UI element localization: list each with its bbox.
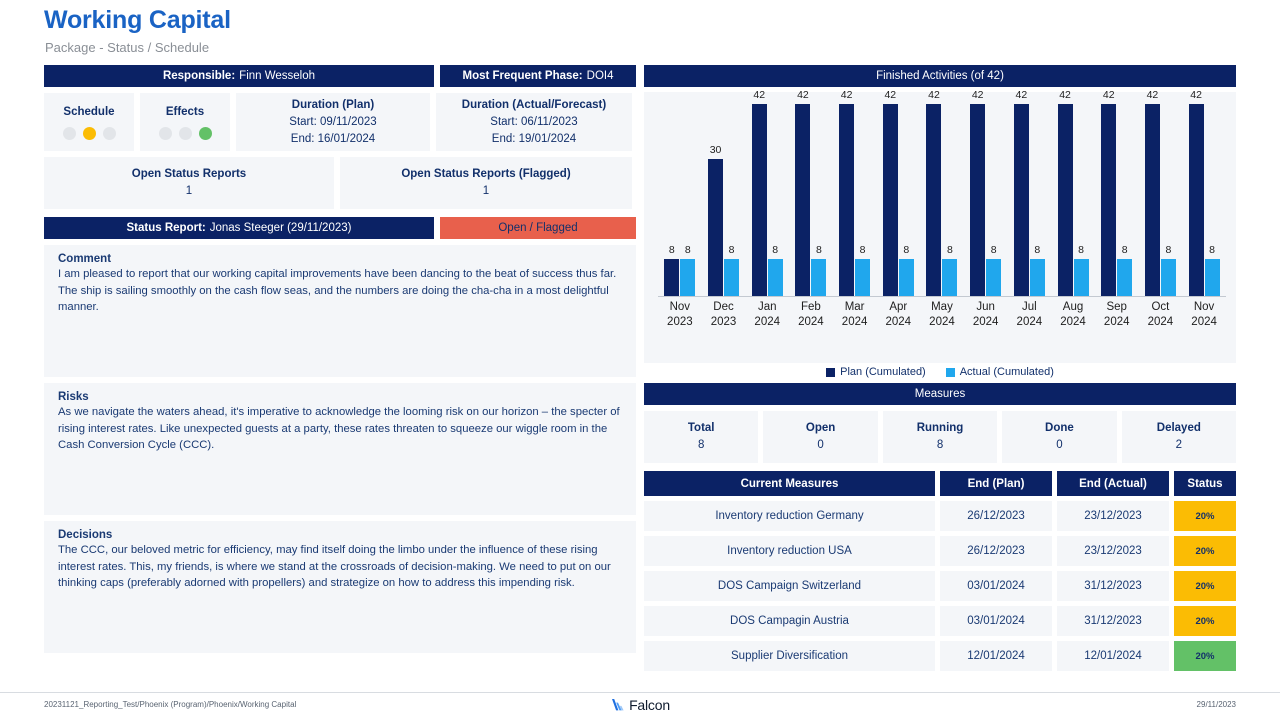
schedule-traffic-light — [63, 127, 116, 140]
bar-value-label: 8 — [685, 244, 691, 256]
cell-measure-name: Inventory reduction USA — [644, 536, 935, 566]
bar-value-label: 8 — [1034, 244, 1040, 256]
footer: 20231121_Reporting_Test/Phoenix (Program… — [0, 692, 1280, 720]
measures-panel-title: Measures — [644, 383, 1236, 405]
dashboard-page: Working Capital Package - Status / Sched… — [0, 0, 1280, 720]
measures-table-header: Current Measures End (Plan) End (Actual)… — [644, 471, 1236, 496]
bar-value-label: 8 — [1165, 244, 1171, 256]
duration-plan-start: Start: 09/11/2023 — [289, 114, 376, 131]
chart-bar-group: 428 — [1140, 104, 1180, 296]
left-column: Responsible: Finn Wesseloh Most Frequent… — [44, 65, 636, 653]
bar-value-label: 8 — [860, 244, 866, 256]
legend-swatch — [826, 368, 835, 377]
effects-card[interactable]: Effects — [140, 93, 230, 151]
open-status-reports-card[interactable]: Open Status Reports 1 — [44, 157, 334, 209]
chart-bar-group: 428 — [1184, 104, 1224, 296]
bar-plan: 42 — [1145, 104, 1160, 296]
cell-status-badge: 20% — [1174, 501, 1236, 531]
risks-block: Risks As we navigate the waters ahead, i… — [44, 383, 636, 515]
comment-body: I am pleased to report that our working … — [58, 266, 622, 316]
bar-value-label: 8 — [772, 244, 778, 256]
duration-actual-end: End: 19/01/2024 — [492, 131, 576, 148]
finished-activities-chart: 88308428428428428428428428428428428428 N… — [644, 92, 1236, 363]
bar-value-label: 42 — [841, 89, 853, 101]
traffic-dot-yellow — [83, 127, 96, 140]
duration-plan-label: Duration (Plan) — [292, 97, 374, 114]
measure-summary-card[interactable]: Total8 — [644, 411, 758, 463]
cell-status-badge: 20% — [1174, 571, 1236, 601]
chart-bar-group: 428 — [878, 104, 918, 296]
cell-end-plan: 26/12/2023 — [940, 501, 1052, 531]
bar-actual: 8 — [768, 259, 783, 296]
bar-plan: 8 — [664, 259, 679, 296]
duration-actual-start: Start: 06/11/2023 — [490, 114, 577, 131]
x-axis-tick-label: Feb2024 — [791, 300, 831, 330]
cell-end-plan: 03/01/2024 — [940, 606, 1052, 636]
chart-bar-group: 428 — [1009, 104, 1049, 296]
column-header-status: Status — [1174, 471, 1236, 496]
measure-summary-label: Running — [917, 420, 964, 437]
decisions-heading: Decisions — [58, 529, 622, 541]
bar-value-label: 8 — [1122, 244, 1128, 256]
legend-label: Plan (Cumulated) — [840, 366, 926, 378]
open-status-reports-label: Open Status Reports — [132, 166, 246, 183]
measure-summary-value: 8 — [698, 437, 704, 454]
bar-plan: 30 — [708, 159, 723, 296]
effects-label: Effects — [166, 104, 204, 121]
measure-summary-card[interactable]: Open0 — [763, 411, 877, 463]
bar-value-label: 42 — [884, 89, 896, 101]
cell-end-actual: 23/12/2023 — [1057, 501, 1169, 531]
open-reports-row: Open Status Reports 1 Open Status Report… — [44, 157, 636, 209]
bar-plan: 42 — [752, 104, 767, 296]
legend-label: Actual (Cumulated) — [960, 366, 1054, 378]
bar-value-label: 42 — [797, 89, 809, 101]
cell-status-badge: 20% — [1174, 606, 1236, 636]
column-header-name: Current Measures — [644, 471, 935, 496]
right-column: Finished Activities (of 42) 883084284284… — [644, 65, 1236, 671]
phase-value: DOI4 — [587, 70, 614, 82]
x-axis-tick-label: Jan2024 — [747, 300, 787, 330]
measures-summary-row: Total8Open0Running8Done0Delayed2 — [644, 411, 1236, 463]
footer-brand-name: Falcon — [629, 697, 670, 713]
bar-plan: 42 — [970, 104, 985, 296]
x-axis-tick-label: May2024 — [922, 300, 962, 330]
table-row[interactable]: DOS Campaign Switzerland03/01/202431/12/… — [644, 571, 1236, 601]
cell-status-badge: 20% — [1174, 641, 1236, 671]
bar-actual: 8 — [1161, 259, 1176, 296]
cell-end-plan: 26/12/2023 — [940, 536, 1052, 566]
table-row[interactable]: DOS Campagin Austria03/01/202431/12/2023… — [644, 606, 1236, 636]
bar-value-label: 42 — [753, 89, 765, 101]
traffic-dot-green — [103, 127, 116, 140]
cell-end-plan: 03/01/2024 — [940, 571, 1052, 601]
chart-plot-area: 88308428428428428428428428428428428428 — [658, 104, 1226, 296]
cell-measure-name: DOS Campagin Austria — [644, 606, 935, 636]
bar-value-label: 42 — [1190, 89, 1202, 101]
status-report-author: Jonas Steeger (29/11/2023) — [210, 222, 352, 234]
measure-summary-value: 8 — [937, 437, 943, 454]
duration-plan-end: End: 16/01/2024 — [291, 131, 375, 148]
x-axis-tick-label: Apr2024 — [878, 300, 918, 330]
measure-summary-value: 0 — [1056, 437, 1062, 454]
bar-value-label: 8 — [1078, 244, 1084, 256]
bar-plan: 42 — [926, 104, 941, 296]
cell-end-actual: 31/12/2023 — [1057, 606, 1169, 636]
bar-plan: 42 — [795, 104, 810, 296]
bar-value-label: 8 — [947, 244, 953, 256]
risks-heading: Risks — [58, 391, 622, 403]
legend-item[interactable]: Actual (Cumulated) — [946, 366, 1054, 378]
x-axis-tick-label: Nov2023 — [660, 300, 700, 330]
table-row[interactable]: Supplier Diversification12/01/202412/01/… — [644, 641, 1236, 671]
measure-summary-label: Open — [806, 420, 835, 437]
table-row[interactable]: Inventory reduction Germany26/12/202323/… — [644, 501, 1236, 531]
bar-plan: 42 — [1189, 104, 1204, 296]
bar-actual: 8 — [986, 259, 1001, 296]
traffic-dot-red — [63, 127, 76, 140]
falcon-logo-icon — [610, 698, 625, 712]
decisions-body: The CCC, our beloved metric for efficien… — [58, 542, 622, 592]
cell-measure-name: DOS Campaign Switzerland — [644, 571, 935, 601]
phase-label: Most Frequent Phase: — [463, 70, 583, 82]
measure-summary-card[interactable]: Running8 — [883, 411, 997, 463]
schedule-label: Schedule — [63, 104, 114, 121]
chart-bar-group: 428 — [966, 104, 1006, 296]
legend-item[interactable]: Plan (Cumulated) — [826, 366, 926, 378]
traffic-dot-red — [159, 127, 172, 140]
bar-plan: 42 — [1101, 104, 1116, 296]
x-axis-tick-label: Sep2024 — [1097, 300, 1137, 330]
cell-measure-name: Inventory reduction Germany — [644, 501, 935, 531]
cell-end-actual: 31/12/2023 — [1057, 571, 1169, 601]
bar-value-label: 8 — [816, 244, 822, 256]
bar-plan: 42 — [883, 104, 898, 296]
footer-date: 29/11/2023 — [1197, 700, 1236, 709]
bar-actual: 8 — [942, 259, 957, 296]
bar-actual: 8 — [1117, 259, 1132, 296]
comment-block: Comment I am pleased to report that our … — [44, 245, 636, 377]
chart-bar-group: 428 — [835, 104, 875, 296]
effects-traffic-light — [159, 127, 212, 140]
duration-actual-label: Duration (Actual/Forecast) — [462, 97, 606, 114]
chart-x-axis-labels: Nov2023Dec2023Jan2024Feb2024Mar2024Apr20… — [658, 300, 1226, 330]
duration-plan-card: Duration (Plan) Start: 09/11/2023 End: 1… — [236, 93, 430, 151]
chart-bar-group: 428 — [922, 104, 962, 296]
chart-bar-group: 428 — [1053, 104, 1093, 296]
bar-plan: 42 — [1058, 104, 1073, 296]
column-header-end-actual: End (Actual) — [1057, 471, 1169, 496]
status-report-header-row: Status Report: Jonas Steeger (29/11/2023… — [44, 217, 636, 239]
responsible-bar: Responsible: Finn Wesseloh — [44, 65, 434, 87]
status-report-bar: Status Report: Jonas Steeger (29/11/2023… — [44, 217, 434, 239]
chart-axis-line — [658, 296, 1226, 297]
x-axis-tick-label: Oct2024 — [1140, 300, 1180, 330]
x-axis-tick-label: Mar2024 — [835, 300, 875, 330]
measure-summary-value: 0 — [817, 437, 823, 454]
bar-actual: 8 — [680, 259, 695, 296]
x-axis-tick-label: Aug2024 — [1053, 300, 1093, 330]
bar-value-label: 42 — [1147, 89, 1159, 101]
responsible-label: Responsible: — [163, 70, 235, 82]
measure-summary-card[interactable]: Done0 — [1002, 411, 1116, 463]
page-subtitle: Package - Status / Schedule — [45, 40, 209, 55]
cell-end-actual: 12/01/2024 — [1057, 641, 1169, 671]
chart-bar-group: 88 — [660, 104, 700, 296]
bar-plan: 42 — [1014, 104, 1029, 296]
footer-brand: Falcon — [0, 697, 1280, 713]
bar-value-label: 8 — [903, 244, 909, 256]
duration-actual-card: Duration (Actual/Forecast) Start: 06/11/… — [436, 93, 632, 151]
measures-table-body: Inventory reduction Germany26/12/202323/… — [644, 501, 1236, 671]
decisions-block: Decisions The CCC, our beloved metric fo… — [44, 521, 636, 653]
chart-bar-group: 428 — [1097, 104, 1137, 296]
bar-value-label: 30 — [710, 144, 722, 156]
chart-legend: Plan (Cumulated)Actual (Cumulated) — [644, 366, 1236, 378]
top-bar-row: Responsible: Finn Wesseloh Most Frequent… — [44, 65, 636, 87]
open-status-reports-flagged-card[interactable]: Open Status Reports (Flagged) 1 — [340, 157, 632, 209]
measure-summary-label: Total — [688, 420, 715, 437]
bar-actual: 8 — [899, 259, 914, 296]
bar-actual: 8 — [811, 259, 826, 296]
bar-value-label: 8 — [729, 244, 735, 256]
bar-plan: 42 — [839, 104, 854, 296]
bar-value-label: 42 — [1103, 89, 1115, 101]
risks-body: As we navigate the waters ahead, it's im… — [58, 404, 622, 454]
traffic-dot-yellow — [179, 127, 192, 140]
status-badge[interactable]: Open / Flagged — [440, 217, 636, 239]
status-report-label: Status Report: — [127, 222, 206, 234]
bar-value-label: 42 — [1059, 89, 1071, 101]
cell-end-actual: 23/12/2023 — [1057, 536, 1169, 566]
bar-value-label: 42 — [928, 89, 940, 101]
status-card-row: Schedule Effects Duration (Plan) Start: … — [44, 93, 636, 151]
open-status-reports-flagged-label: Open Status Reports (Flagged) — [401, 166, 570, 183]
bar-value-label: 8 — [669, 244, 675, 256]
bar-actual: 8 — [1074, 259, 1089, 296]
x-axis-tick-label: Jun2024 — [966, 300, 1006, 330]
x-axis-tick-label: Nov2024 — [1184, 300, 1224, 330]
bar-actual: 8 — [855, 259, 870, 296]
schedule-card[interactable]: Schedule — [44, 93, 134, 151]
traffic-dot-green — [199, 127, 212, 140]
responsible-value: Finn Wesseloh — [239, 70, 315, 82]
column-header-end-plan: End (Plan) — [940, 471, 1052, 496]
measure-summary-card[interactable]: Delayed2 — [1122, 411, 1236, 463]
legend-swatch — [946, 368, 955, 377]
open-status-reports-value: 1 — [186, 183, 192, 200]
bar-value-label: 42 — [972, 89, 984, 101]
measure-summary-label: Delayed — [1157, 420, 1201, 437]
chart-bar-group: 308 — [704, 104, 744, 296]
measure-summary-label: Done — [1045, 420, 1074, 437]
bar-value-label: 42 — [1016, 89, 1028, 101]
cell-status-badge: 20% — [1174, 536, 1236, 566]
bar-value-label: 8 — [1209, 244, 1215, 256]
cell-end-plan: 12/01/2024 — [940, 641, 1052, 671]
table-row[interactable]: Inventory reduction USA26/12/202323/12/2… — [644, 536, 1236, 566]
cell-measure-name: Supplier Diversification — [644, 641, 935, 671]
bar-actual: 8 — [1205, 259, 1220, 296]
bar-actual: 8 — [1030, 259, 1045, 296]
most-frequent-phase-bar: Most Frequent Phase: DOI4 — [440, 65, 636, 87]
measure-summary-value: 2 — [1176, 437, 1182, 454]
bar-actual: 8 — [724, 259, 739, 296]
chart-bar-group: 428 — [791, 104, 831, 296]
chart-bar-group: 428 — [747, 104, 787, 296]
comment-heading: Comment — [58, 253, 622, 265]
bar-value-label: 8 — [991, 244, 997, 256]
measures-table: Current Measures End (Plan) End (Actual)… — [644, 471, 1236, 671]
open-status-reports-flagged-value: 1 — [483, 183, 489, 200]
x-axis-tick-label: Dec2023 — [704, 300, 744, 330]
x-axis-tick-label: Jul2024 — [1009, 300, 1049, 330]
page-title: Working Capital — [44, 6, 231, 35]
chart-panel-title: Finished Activities (of 42) — [644, 65, 1236, 87]
